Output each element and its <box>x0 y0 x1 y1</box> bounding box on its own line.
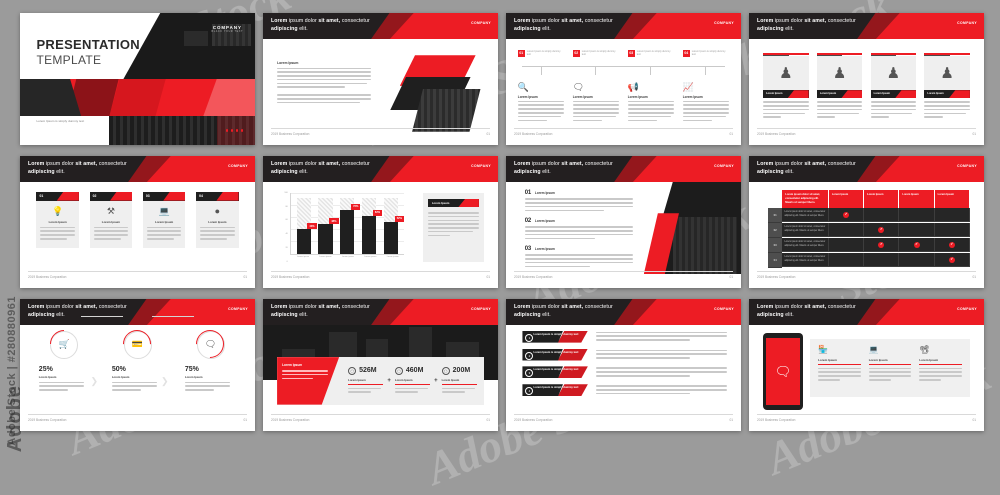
banner-paragraph <box>588 384 727 396</box>
slide-header: Lorem ipsum dolor sit amet, consectetur … <box>506 156 741 182</box>
item-label: Lorem Ipsum <box>112 375 163 379</box>
percent-value: 50% <box>112 366 163 373</box>
team-card[interactable]: ♟ Lorem Ipsum <box>763 53 808 121</box>
timeline-number: 04 <box>683 50 690 57</box>
stat-label: Lorem Ipsum <box>442 378 477 382</box>
header-title: Lorem ipsum dolor sit amet, consectetur … <box>757 303 862 319</box>
x-tick-label: Lorem ipsum <box>296 256 311 262</box>
slide-mobile-app[interactable]: Lorem ipsum dolor sit amet, consectetur … <box>749 299 984 431</box>
stat-item[interactable]: ◯200M Lorem Ipsum <box>439 367 480 395</box>
card-label: Lorem Ipsum <box>94 220 128 224</box>
stat-item[interactable]: ◯460M Lorem Ipsum <box>392 367 433 395</box>
y-tick-label: 60 <box>285 219 287 221</box>
banner-label: Lorem Ipsum is simply dummy text <box>533 351 578 355</box>
table-cell <box>935 208 970 222</box>
y-axis: 020406080100 <box>282 193 289 262</box>
slide-header: Lorem ipsum dolor sit amet, consectetur … <box>20 299 255 325</box>
banner-label: Lorem Ipsum is simply dummy text <box>533 368 578 372</box>
stat-value: 460M <box>406 367 424 374</box>
slide-stats[interactable]: Lorem ipsum dolor sit amet, consectetur … <box>263 299 498 431</box>
slide-bar-chart[interactable]: Lorem ipsum dolor sit amet, consectetur … <box>263 156 498 288</box>
progress-ring: 🗨 <box>197 331 225 359</box>
footer-text: 2019 Business Corporation <box>514 275 552 279</box>
table-row-number: 02 <box>768 223 783 238</box>
person-icon: ♟ <box>779 64 792 82</box>
card-label: Lorem Ipsum <box>200 220 234 224</box>
table-row[interactable]: 01Lorem ipsum dolor sit amet, consectetu… <box>768 208 970 223</box>
table-row-number: 04 <box>768 253 783 268</box>
avatar: ♟ <box>871 56 916 90</box>
timeline-note: Lorem Ipsum is simply dummy text <box>582 50 620 57</box>
percent-value: 75% <box>185 366 236 373</box>
table-column-header: Lorem Ipsum <box>864 190 899 208</box>
team-card[interactable]: ♟ Lorem Ipsum <box>924 53 969 121</box>
slide-header: Lorem ipsum dolor sit amet, consectetur … <box>20 156 255 182</box>
chart-side-panel: Lorem Ipsum <box>423 193 484 262</box>
check-icon: ✔ <box>949 257 955 263</box>
slide-comparison-table[interactable]: Lorem ipsum dolor sit amet, consectetur … <box>749 156 984 288</box>
numbered-card[interactable]: 04 ● Lorem Ipsum <box>196 192 238 248</box>
banner-shape: 1Lorem Ipsum is simply dummy text <box>522 331 587 343</box>
item-number: 02 <box>525 218 531 224</box>
stat-label: Lorem Ipsum <box>395 378 430 382</box>
table-cell: ✔ <box>935 238 970 252</box>
slide-footer: 2019 Business Corporation 01 <box>514 271 733 282</box>
bar-chart-icon: 📈 <box>683 82 730 93</box>
person-icon: ♟ <box>940 64 953 82</box>
title-caption: Lorem Ipsum is simply dummy text <box>36 119 84 124</box>
clock-icon: ◯ <box>348 367 356 375</box>
item-label: Lorem Ipsum <box>518 95 565 99</box>
footer-page-number: 01 <box>243 418 247 422</box>
company-label: COMPANY <box>714 164 734 168</box>
timeline-item[interactable]: 03Lorem Ipsum is simply dummy text <box>628 50 675 57</box>
timeline-ticks <box>518 66 730 75</box>
card-label: Lorem Ipsum <box>40 220 74 224</box>
banner-rows: 1Lorem Ipsum is simply dummy text2Lorem … <box>522 331 726 402</box>
chart-bar[interactable]: 40% <box>297 229 311 253</box>
x-tick-label: Lorem ipsum <box>385 256 400 262</box>
company-label: COMPANY <box>957 307 977 311</box>
slide-footer: 2019 Business Corporation 01 <box>28 271 247 282</box>
company-label: COMPANY <box>957 21 977 25</box>
item-number: 03 <box>525 246 531 252</box>
feature-label: Lorem Ipsum <box>869 358 912 362</box>
avatar: ♟ <box>763 56 808 90</box>
company-label: COMPANY <box>714 307 734 311</box>
slide-footer: 2019 Business Corporation 01 <box>757 271 976 282</box>
banner-label: Lorem Ipsum is simply dummy text <box>533 386 578 390</box>
progress-ring: 🛒 <box>50 331 78 359</box>
card-label: Lorem Ipsum <box>147 220 181 224</box>
item-label: Lorem Ipsum <box>39 375 90 379</box>
item-label: Lorem Ipsum <box>535 219 555 223</box>
table-row[interactable]: 02Lorem ipsum dolor sit amet, consectetu… <box>768 223 970 238</box>
person-icon: ♟ <box>887 64 900 82</box>
panel-label: Lorem Ipsum <box>282 363 334 367</box>
table-column-header: Lorem ipsum dolor sit amet, consectetur … <box>782 190 829 208</box>
footer-page-number: 01 <box>486 418 490 422</box>
banner-label: Lorem Ipsum is simply dummy text <box>533 333 578 337</box>
slide-header: Lorem ipsum dolor sit amet, consectetur … <box>263 299 498 325</box>
item-label: Lorem Ipsum <box>628 95 675 99</box>
footer-text: 2019 Business Corporation <box>271 275 309 279</box>
bar-data-label: 40% <box>307 223 317 229</box>
table-column-header: Lorem Ipsum <box>899 190 934 208</box>
table-cell <box>829 223 864 237</box>
x-axis-labels: Lorem ipsumLorem ipsumLorem ipsumLorem i… <box>292 256 404 262</box>
numbered-list: 01Lorem Ipsum 02Lorem Ipsum 03Lorem Ipsu… <box>525 190 638 274</box>
table-cell-description: Lorem ipsum dolor sit amet, consectetur … <box>782 208 829 222</box>
table-cell <box>829 253 864 267</box>
item-label: Lorem Ipsum <box>185 375 236 379</box>
chart-bar[interactable]: 72% <box>340 210 354 254</box>
item-label: Lorem Ipsum <box>535 191 555 195</box>
header-title: Lorem ipsum dolor sit amet, consectetur … <box>271 160 376 176</box>
table-cell-description: Lorem ipsum dolor sit amet, consectetur … <box>782 238 829 252</box>
timeline-number: 02 <box>573 50 580 57</box>
cityscape-image <box>638 182 741 274</box>
progress-ring: 💳 <box>124 331 152 359</box>
stats-panel: Lorem Ipsum ◯526M Lorem Ipsum + ◯460M Lo… <box>277 357 484 405</box>
y-tick-label: 0 <box>287 261 288 263</box>
slide-team[interactable]: Lorem ipsum dolor sit amet, consectetur … <box>749 13 984 145</box>
storefront-icon: 🏪 <box>818 345 861 355</box>
footer-text: 2019 Business Corporation <box>514 132 552 136</box>
feature-label: Lorem Ipsum <box>919 358 962 362</box>
person-icon: ♟ <box>833 64 846 82</box>
numbered-card[interactable]: 01 💡 Lorem Ipsum <box>36 192 78 248</box>
body-text-block: Lorem Ipsum <box>277 61 371 106</box>
table-row-number: 01 <box>768 208 783 223</box>
table-cell <box>864 253 899 267</box>
x-tick-label: Lorem ipsum <box>341 256 356 262</box>
slide-header: Lorem ipsum dolor sit amet, consectetur … <box>749 156 984 182</box>
slide-footer: 2019 Business Corporation 01 <box>757 128 976 139</box>
check-icon: ✔ <box>949 242 955 248</box>
item-label: Lorem Ipsum <box>573 95 620 99</box>
company-tagline: BLACK YOUR TEXT <box>212 31 244 33</box>
slide-header: Lorem ipsum dolor sit amet, consectetur … <box>749 13 984 39</box>
x-tick-label: Lorem ipsum <box>363 256 378 262</box>
red-diagonal-band <box>20 79 255 116</box>
features-panel: 🏪 Lorem Ipsum 💻 Lorem Ipsum 📽 Lorem Ipsu… <box>810 339 970 397</box>
company-name: COMPANY <box>212 25 244 30</box>
phone-mockup: 🗨 <box>763 333 803 410</box>
header-title: Lorem ipsum dolor sit amet, consectetur … <box>271 17 376 33</box>
slide-footer: 2019 Business Corporation 01 <box>28 414 247 425</box>
comparison-table: Lorem ipsum dolor sit amet, consectetur … <box>768 190 970 268</box>
footer-text: 2019 Business Corporation <box>271 418 309 422</box>
header-title: Lorem ipsum dolor sit amet, consectetur … <box>514 17 619 33</box>
card-number: 02 <box>93 194 97 198</box>
table-cell: ✔ <box>864 238 899 252</box>
percent-value: 25% <box>39 366 90 373</box>
timeline-number: 03 <box>628 50 635 57</box>
numbered-card[interactable]: 03 💻 Lorem Ipsum <box>143 192 185 248</box>
cityscape-block <box>184 31 208 46</box>
timeline-item[interactable]: 01Lorem Ipsum is simply dummy text <box>518 50 565 57</box>
table-cell-description: Lorem ipsum dolor sit amet, consectetur … <box>782 253 829 267</box>
chevron-right-icon: ❯ <box>161 376 169 387</box>
tools-icon: ⚒ <box>94 206 128 217</box>
slide-footer: 2019 Business Corporation 01 <box>514 414 733 425</box>
slide-header: Lorem ipsum dolor sit amet, consectetur … <box>263 156 498 182</box>
timeline-content: 🗨 Lorem Ipsum <box>573 82 620 124</box>
timeline-note: Lorem Ipsum is simply dummy text <box>692 50 730 57</box>
feature-item[interactable]: 📽 Lorem Ipsum <box>915 345 966 391</box>
table-cell: ✔ <box>829 208 864 222</box>
slide-numbered-list[interactable]: Lorem ipsum dolor sit amet, consectetur … <box>506 156 741 288</box>
card-label: Lorem Ipsum <box>874 92 890 95</box>
table-cell: ✔ <box>864 223 899 237</box>
item-label: Lorem Ipsum <box>683 95 730 99</box>
bar-data-label: 48% <box>329 218 339 224</box>
company-label: COMPANY <box>471 307 491 311</box>
timeline-numbers-row: 01Lorem Ipsum is simply dummy text 02Lor… <box>518 50 730 57</box>
timeline-content: 🔍 Lorem Ipsum <box>518 82 565 124</box>
timeline-content: 📈 Lorem Ipsum <box>683 82 730 124</box>
table-corner <box>768 190 783 208</box>
company-label: COMPANY <box>714 21 734 25</box>
footer-text: 2019 Business Corporation <box>271 132 309 136</box>
bar-data-label: 62% <box>373 210 383 216</box>
monitor-icon: 💻 <box>147 206 181 217</box>
card-number: 04 <box>199 194 203 198</box>
footer-text: 2019 Business Corporation <box>757 132 795 136</box>
chart-bar[interactable]: 62% <box>362 216 376 254</box>
bar-data-label: 52% <box>395 216 405 222</box>
feature-item[interactable]: 🏪 Lorem Ipsum <box>814 345 865 391</box>
table-cell <box>829 238 864 252</box>
stat-label: Lorem Ipsum <box>348 378 383 382</box>
chart-bar[interactable]: 52% <box>384 222 398 254</box>
slide-footer: 2019 Business Corporation 01 <box>514 128 733 139</box>
footer-page-number: 01 <box>486 132 490 136</box>
page-subtitle: TEMPLATE <box>36 53 101 67</box>
search-icon: 🔍 <box>518 82 565 93</box>
banner-row[interactable]: 2Lorem Ipsum is simply dummy text <box>522 349 726 361</box>
header-title: Lorem ipsum dolor sit amet, consectetur … <box>757 17 862 33</box>
banner-paragraph <box>588 331 727 343</box>
table-row[interactable]: 03Lorem ipsum dolor sit amet, consectetu… <box>768 238 970 253</box>
stats-red-block: Lorem Ipsum <box>277 357 339 405</box>
footer-page-number: 01 <box>972 132 976 136</box>
slide-header: Lorem ipsum dolor sit amet, consectetur … <box>749 299 984 325</box>
card-label: Lorem Ipsum <box>927 92 943 95</box>
check-icon: ✔ <box>878 227 884 233</box>
timeline-content: 📢 Lorem Ipsum <box>628 82 675 124</box>
footer-text: 2019 Business Corporation <box>28 418 66 422</box>
team-card[interactable]: ♟ Lorem Ipsum <box>817 53 862 121</box>
header-title: Lorem ipsum dolor sit amet, consectetur … <box>271 303 376 319</box>
slide-footer: 2019 Business Corporation 01 <box>271 128 490 139</box>
company-label: COMPANY <box>471 164 491 168</box>
table-row-number: 03 <box>768 238 783 253</box>
card-label: Lorem Ipsum <box>820 92 836 95</box>
table-cell <box>864 208 899 222</box>
stat-item[interactable]: ◯526M Lorem Ipsum <box>345 367 386 395</box>
card-number: 03 <box>146 194 150 198</box>
pagination-dots[interactable] <box>226 129 244 132</box>
table-cell: ✔ <box>899 238 934 252</box>
bar-wrapper: 72% <box>340 193 354 254</box>
numbered-card[interactable]: 02 ⚒ Lorem Ipsum <box>90 192 132 248</box>
slide-timeline[interactable]: Lorem ipsum dolor sit amet, consectetur … <box>506 13 741 145</box>
chat-icon: 🗨 <box>573 82 620 93</box>
footer-text: 2019 Business Corporation <box>757 275 795 279</box>
pie-chart-icon: ● <box>200 206 234 217</box>
phone-screen: 🗨 <box>766 338 800 405</box>
footer-page-number: 01 <box>972 275 976 279</box>
slide-footer: 2019 Business Corporation 01 <box>271 271 490 282</box>
banner-row[interactable]: 3Lorem Ipsum is simply dummy text <box>522 366 726 378</box>
banner-row[interactable]: 1Lorem Ipsum is simply dummy text <box>522 331 726 343</box>
footer-page-number: 01 <box>729 132 733 136</box>
item-label: Lorem Ipsum <box>535 247 555 251</box>
card-number: 01 <box>39 194 43 198</box>
table-cell: ✔ <box>935 253 970 267</box>
video-window-icon: 📽 <box>919 345 962 355</box>
feature-label: Lorem Ipsum <box>818 358 861 362</box>
list-item[interactable]: 03Lorem Ipsum <box>525 246 638 267</box>
slide-text[interactable]: Lorem ipsum dolor sit amet, consectetur … <box>263 13 498 145</box>
timeline-number: 01 <box>518 50 525 57</box>
avatar: ♟ <box>924 56 969 90</box>
bar-chart: 020406080100 40%48%72%62%52% Lorem ipsum… <box>282 193 404 262</box>
banner-paragraph <box>588 366 727 378</box>
company-label: COMPANY <box>957 164 977 168</box>
check-icon: ✔ <box>878 242 884 248</box>
side-label: Lorem Ipsum <box>432 201 450 205</box>
check-icon: ✔ <box>914 242 920 248</box>
list-item[interactable]: 02Lorem Ipsum <box>525 218 638 239</box>
slide-banner-list[interactable]: Lorem ipsum dolor sit amet, consectetur … <box>506 299 741 431</box>
decorative-shapes <box>385 55 498 132</box>
monitor-icon: 💻 <box>869 345 912 355</box>
footer-text: 2019 Business Corporation <box>28 275 66 279</box>
header-title: Lorem ipsum dolor sit amet, consectetur … <box>514 160 619 176</box>
y-tick-label: 100 <box>284 192 287 194</box>
y-tick-label: 20 <box>285 247 287 249</box>
poster-canvas: Adobe Adobe Stock | #280880961 Adobe Sto… <box>0 0 1000 456</box>
company-label: COMPANY <box>471 21 491 25</box>
footer-page-number: 01 <box>972 418 976 422</box>
chart-plot-area: 40%48%72%62%52% <box>290 193 404 255</box>
slide-header: Lorem ipsum dolor sit amet, consectetur … <box>506 299 741 325</box>
bar-wrapper: 52% <box>384 193 398 254</box>
banner-shape: 3Lorem Ipsum is simply dummy text <box>522 366 587 378</box>
percent-item[interactable]: 🗨 75% Lorem Ipsum <box>185 331 236 393</box>
table-cell <box>899 253 934 267</box>
avatar: ♟ <box>817 56 862 90</box>
bar-wrapper: 48% <box>318 193 332 254</box>
header-title: Lorem ipsum dolor sit amet, consectetur … <box>28 160 133 176</box>
banner-paragraph <box>588 349 727 361</box>
slide-header: Lorem ipsum dolor sit amet, consectetur … <box>506 13 741 39</box>
section-label: Lorem Ipsum <box>277 61 371 65</box>
footer-page-number: 01 <box>486 275 490 279</box>
company-label: COMPANY <box>228 164 248 168</box>
percent-row: 🛒 25% Lorem Ipsum 💳 50% Lorem Ipsum 🗨 <box>39 331 236 393</box>
footer-page-number: 01 <box>243 275 247 279</box>
company-label: COMPANY <box>228 307 248 311</box>
feature-item[interactable]: 💻 Lorem Ipsum <box>865 345 916 391</box>
clock-icon: ◯ <box>395 367 403 375</box>
table-cell <box>899 223 934 237</box>
slide-percent-circles[interactable]: Lorem ipsum dolor sit amet, consectetur … <box>20 299 255 431</box>
percent-item[interactable]: 🛒 25% Lorem Ipsum <box>39 331 90 393</box>
slide-title[interactable]: COMPANY BLACK YOUR TEXT PRESENTATION TEM… <box>20 13 255 145</box>
slide-header: Lorem ipsum dolor sit amet, consectetur … <box>263 13 498 39</box>
slide-grid: COMPANY BLACK YOUR TEXT PRESENTATION TEM… <box>0 0 1000 456</box>
table-row[interactable]: 04Lorem ipsum dolor sit amet, consectetu… <box>768 253 970 268</box>
timeline-item[interactable]: 02Lorem Ipsum is simply dummy text <box>573 50 620 57</box>
chart-bars: 40%48%72%62%52% <box>293 193 402 254</box>
banner-shape: 2Lorem Ipsum is simply dummy text <box>522 349 587 361</box>
y-tick-label: 80 <box>285 206 287 208</box>
numbered-cards-row: 01 💡 Lorem Ipsum 02 ⚒ Lorem Ipsum 03 💻 L… <box>36 192 238 248</box>
x-tick-label: Lorem ipsum <box>318 256 333 262</box>
slide-footer: 2019 Business Corporation 01 <box>757 414 976 425</box>
slide-footer: 2019 Business Corporation 01 <box>271 414 490 425</box>
number-badge-icon: 2 <box>525 352 533 360</box>
chevron-right-icon: ❯ <box>91 376 99 387</box>
stats-values: ◯526M Lorem Ipsum + ◯460M Lorem Ipsum + … <box>339 357 484 405</box>
timeline-content-row: 🔍 Lorem Ipsum 🗨 Lorem Ipsum 📢 Lorem Ipsu… <box>518 82 730 124</box>
bar-wrapper: 62% <box>362 193 376 254</box>
table-cell <box>899 208 934 222</box>
timeline-note: Lorem Ipsum is simply dummy text <box>527 50 565 57</box>
table-cell-description: Lorem ipsum dolor sit amet, consectetur … <box>782 223 829 237</box>
item-number: 01 <box>525 190 531 196</box>
footer-text: 2019 Business Corporation <box>514 418 552 422</box>
banner-shape: 4Lorem Ipsum is simply dummy text <box>522 384 587 396</box>
list-item[interactable]: 01Lorem Ipsum <box>525 190 638 211</box>
megaphone-icon: 📢 <box>628 82 675 93</box>
percent-item[interactable]: 💳 50% Lorem Ipsum <box>112 331 163 393</box>
header-title: Lorem ipsum dolor sit amet, consectetur … <box>757 160 862 176</box>
lightbulb-icon: 💡 <box>40 206 74 217</box>
slide-numbered-cards[interactable]: Lorem ipsum dolor sit amet, consectetur … <box>20 156 255 288</box>
bar-wrapper: 40% <box>297 193 311 254</box>
bar-data-label: 72% <box>351 204 361 210</box>
check-icon: ✔ <box>843 212 849 218</box>
company-logo: COMPANY BLACK YOUR TEXT <box>212 25 244 33</box>
footer-page-number: 01 <box>729 418 733 422</box>
table-column-header: Lorem Ipsum <box>829 190 864 208</box>
clock-icon: ◯ <box>442 367 450 375</box>
table-header-row: Lorem ipsum dolor sit amet, consectetur … <box>768 190 970 208</box>
page-title: PRESENTATION <box>36 37 140 52</box>
timeline-note: Lorem Ipsum is simply dummy text <box>637 50 675 57</box>
header-title: Lorem ipsum dolor sit amet, consectetur … <box>514 303 619 319</box>
y-tick-label: 40 <box>285 233 287 235</box>
footer-page-number: 01 <box>729 275 733 279</box>
banner-row[interactable]: 4Lorem Ipsum is simply dummy text <box>522 384 726 396</box>
table-cell <box>935 223 970 237</box>
table-column-header: Lorem Ipsum <box>935 190 970 208</box>
stat-value: 200M <box>453 367 471 374</box>
chat-icon: 🗨 <box>775 364 792 379</box>
team-card[interactable]: ♟ Lorem Ipsum <box>871 53 916 121</box>
timeline-item[interactable]: 04Lorem Ipsum is simply dummy text <box>683 50 730 57</box>
card-label: Lorem Ipsum <box>766 92 782 95</box>
footer-text: 2019 Business Corporation <box>757 418 795 422</box>
chart-bar[interactable]: 48% <box>318 224 332 253</box>
stat-value: 526M <box>359 367 377 374</box>
team-cards-row: ♟ Lorem Ipsum ♟ Lorem Ipsum ♟ Lorem Ipsu… <box>763 53 970 121</box>
